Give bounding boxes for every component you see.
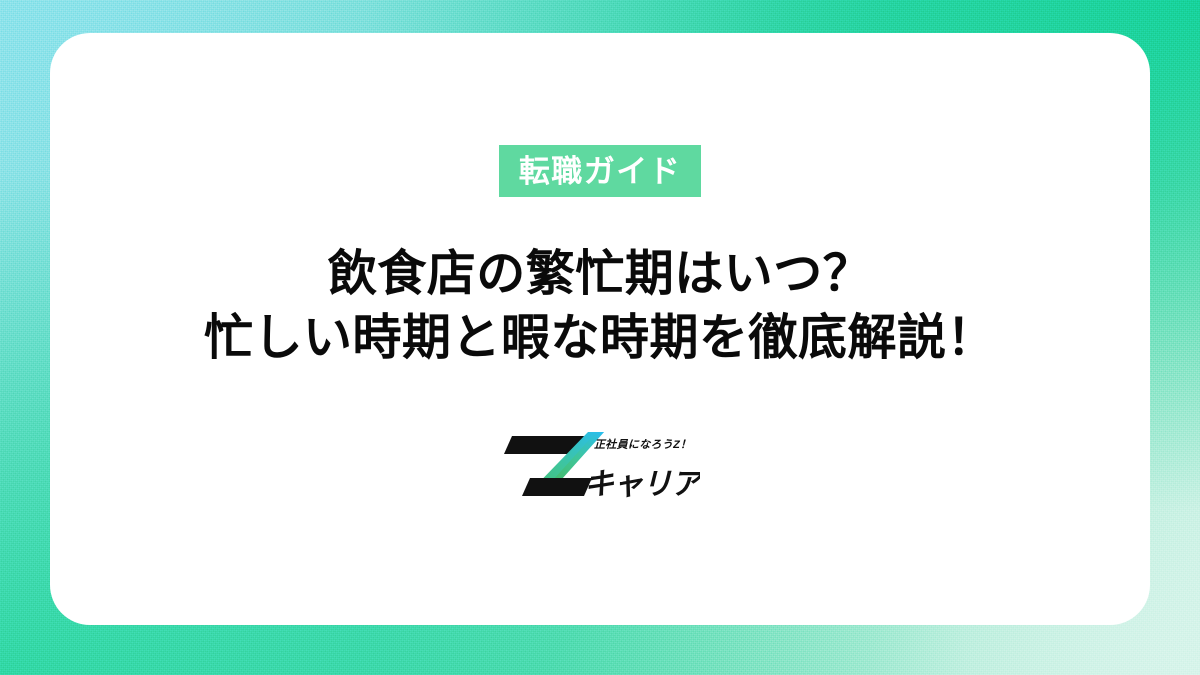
background-canvas: 転職ガイド 飲食店の繁忙期はいつ？ 忙しい時期と暇な時期を徹底解説！ xyxy=(0,0,1200,675)
page-title-line-2: 忙しい時期と暇な時期を徹底解説！ xyxy=(50,307,1150,371)
logo-tagline: 正社員になろうZ！ xyxy=(594,438,691,451)
category-badge: 転職ガイド xyxy=(499,145,702,197)
brand-logo-svg: 正社員になろうZ！ キャリア xyxy=(500,424,700,500)
content-card: 転職ガイド 飲食店の繁忙期はいつ？ 忙しい時期と暇な時期を徹底解説！ xyxy=(50,33,1150,625)
logo-wordmark: キャリア xyxy=(584,468,700,500)
page-title-line-1: 飲食店の繁忙期はいつ？ xyxy=(50,243,1150,307)
page-title: 飲食店の繁忙期はいつ？ 忙しい時期と暇な時期を徹底解説！ xyxy=(50,243,1150,370)
brand-logo: 正社員になろうZ！ キャリア xyxy=(500,424,700,500)
